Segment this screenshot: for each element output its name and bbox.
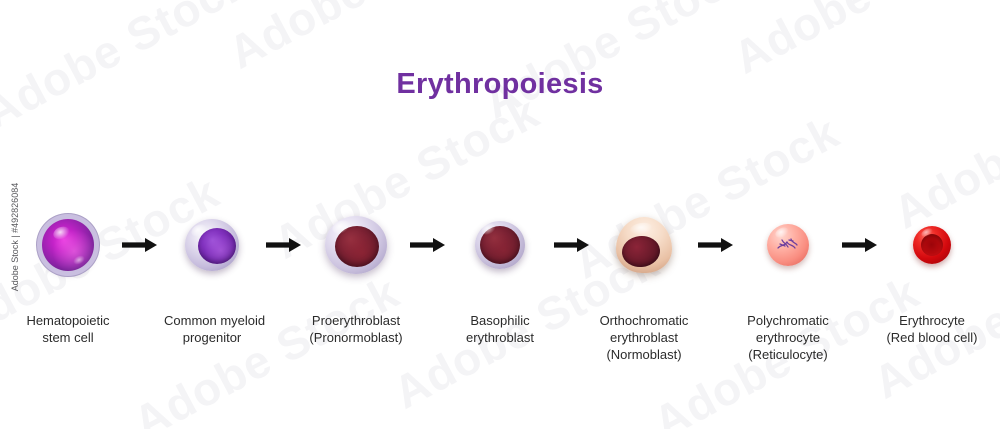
label-line: (Pronormoblast) [308, 329, 404, 346]
label-line: progenitor [164, 329, 260, 346]
arrow-right-icon [260, 225, 308, 265]
stage-cell-proerythroblast [308, 205, 404, 285]
label-line: Hematopoietic [20, 312, 116, 329]
label-line: Proerythroblast [308, 312, 404, 329]
stage-cell-common-myeloid-progenitor [164, 205, 260, 285]
label-line: Orthochromatic [596, 312, 692, 329]
label-polychromatic-erythrocyte: Polychromatic erythrocyte (Reticulocyte) [740, 312, 836, 363]
label-line: Basophilic [452, 312, 548, 329]
label-line: (Reticulocyte) [740, 346, 836, 363]
label-erythrocyte: Erythrocyte (Red blood cell) [884, 312, 980, 346]
reticulocyte-icon [767, 224, 809, 266]
label-line: erythroblast [596, 329, 692, 346]
label-line: Erythrocyte [884, 312, 980, 329]
label-line: stem cell [20, 329, 116, 346]
label-line: (Red blood cell) [884, 329, 980, 346]
label-line: Polychromatic [740, 312, 836, 329]
arrow-right-icon [116, 225, 164, 265]
stage-cell-basophilic-erythroblast [452, 205, 548, 285]
stage-cell-polychromatic-erythrocyte [740, 205, 836, 285]
label-line: (Normoblast) [596, 346, 692, 363]
label-line: erythrocyte [740, 329, 836, 346]
cell-label-row: Hematopoietic stem cell Common myeloid p… [0, 312, 1000, 363]
arrow-right-icon [404, 225, 452, 265]
reticulum-network-icon [775, 235, 801, 255]
arrow-right-icon [548, 225, 596, 265]
page-title: Erythropoiesis [0, 68, 1000, 101]
cell-lineage-row [0, 205, 1000, 285]
basophilic-erythroblast-icon [475, 221, 525, 269]
label-common-myeloid-progenitor: Common myeloid progenitor [164, 312, 260, 346]
label-hematopoietic-stem-cell: Hematopoietic stem cell [20, 312, 116, 346]
watermark-tile: Adobe Stock [474, 0, 757, 129]
stage-cell-erythrocyte [884, 205, 980, 285]
label-orthochromatic-erythroblast: Orthochromatic erythroblast (Normoblast) [596, 312, 692, 363]
common-myeloid-progenitor-icon [185, 219, 239, 271]
arrow-right-icon [836, 225, 884, 265]
erythropoiesis-diagram: Adobe Stock Adobe Stock Adobe Stock Adob… [0, 0, 1000, 429]
label-basophilic-erythroblast: Basophilic erythroblast [452, 312, 548, 346]
label-line: Common myeloid [164, 312, 260, 329]
stage-cell-hematopoietic-stem-cell [20, 205, 116, 285]
arrow-right-icon [692, 225, 740, 265]
hematopoietic-stem-cell-icon [42, 219, 94, 271]
erythrocyte-icon [913, 226, 951, 264]
label-proerythroblast: Proerythroblast (Pronormoblast) [308, 312, 404, 346]
stage-cell-orthochromatic-erythroblast [596, 205, 692, 285]
label-line: erythroblast [452, 329, 548, 346]
proerythroblast-icon [325, 216, 387, 274]
orthochromatic-erythroblast-icon [616, 217, 672, 273]
